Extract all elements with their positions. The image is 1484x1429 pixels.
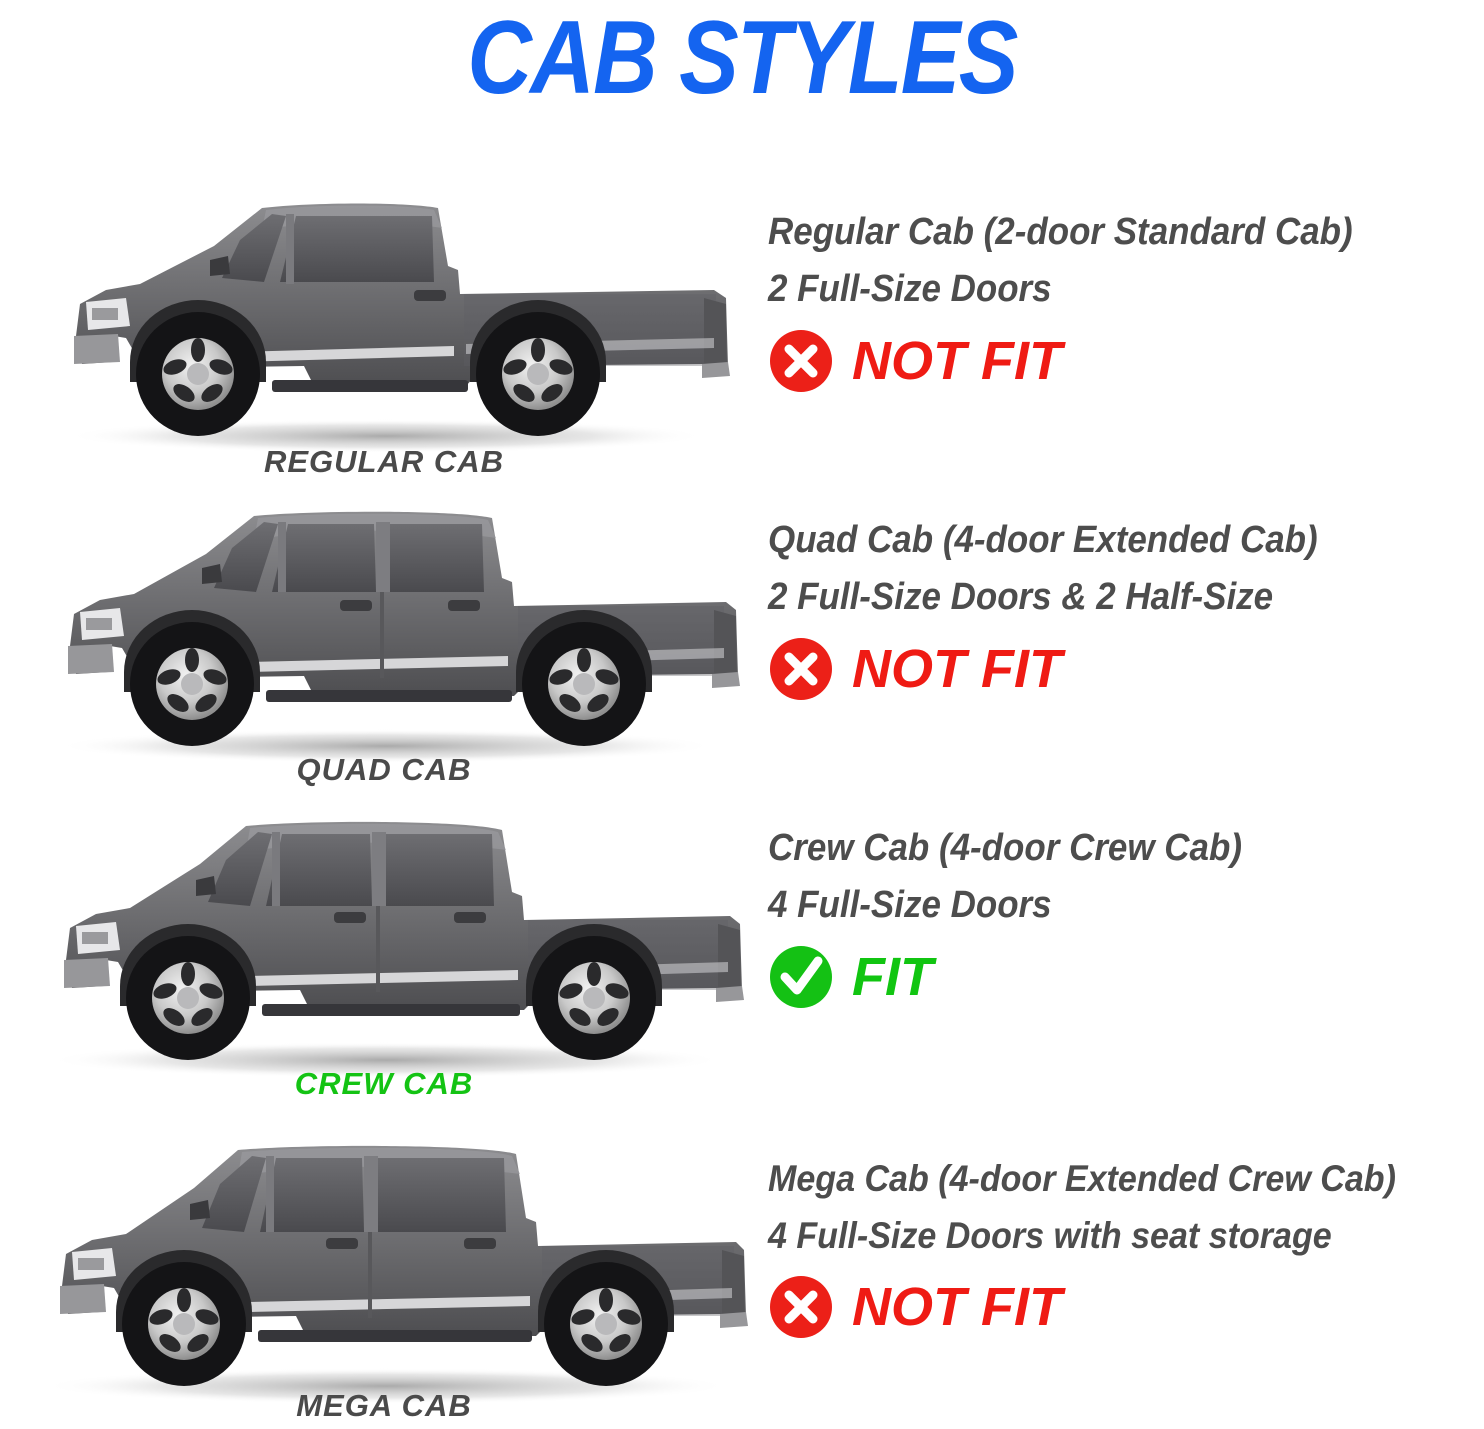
x-circle-icon <box>768 636 834 702</box>
a-pillar <box>266 1156 274 1232</box>
rear-bumper <box>716 986 744 1002</box>
fitment-badge-mega: NOT FIT <box>768 1274 1484 1340</box>
page-title: CAB STYLES <box>104 2 1380 114</box>
x-circle-icon <box>768 328 834 394</box>
rear-wheel <box>522 622 646 746</box>
truck-illustration <box>14 1136 754 1404</box>
rear-wheel <box>544 1262 668 1386</box>
fitment-label-crew: FIT <box>852 948 933 1006</box>
door-seam <box>380 592 384 678</box>
door-handle <box>414 290 446 301</box>
mega-cab-truck <box>14 1136 754 1409</box>
headlight-inner <box>78 1258 104 1270</box>
tailgate <box>704 298 726 366</box>
rear-wheel <box>476 312 600 436</box>
b-pillar <box>364 1156 378 1232</box>
front-door-handle <box>340 600 372 611</box>
crew-cab-truck <box>14 810 754 1083</box>
fitment-label-mega: NOT FIT <box>852 1278 1062 1336</box>
front-bumper <box>60 1284 106 1314</box>
truck-illustration <box>14 186 754 454</box>
tailgate <box>718 924 740 990</box>
headlight-inner <box>82 932 108 944</box>
b-pillar <box>372 832 386 906</box>
running-board <box>258 1330 532 1342</box>
check-circle-icon <box>768 944 834 1010</box>
rear-door-handle <box>448 600 480 611</box>
truck-illustration <box>14 496 754 764</box>
fitment-label-regular: NOT FIT <box>852 332 1062 390</box>
running-board <box>272 380 468 392</box>
rear-bumper <box>720 1312 748 1328</box>
rear-bumper <box>712 672 740 688</box>
rear-door-window-glass <box>390 524 484 592</box>
fitment-badge-quad: NOT FIT <box>768 636 1484 702</box>
rear-door-window-glass <box>378 1158 506 1232</box>
headlight-inner <box>92 308 118 320</box>
fitment-badge-crew: FIT <box>768 944 1484 1010</box>
cab-info-crew: Crew Cab (4-door Crew Cab) 4 Full-Size D… <box>768 820 1484 1010</box>
fitment-badge-regular: NOT FIT <box>768 328 1484 394</box>
front-wheel <box>126 936 250 1060</box>
front-door-window-glass <box>266 834 372 906</box>
cab-caption-regular: REGULAR CAB <box>14 444 754 480</box>
front-door-handle <box>326 1238 358 1249</box>
a-pillar <box>278 522 286 592</box>
front-bumper <box>68 644 114 674</box>
front-door-window-glass <box>272 524 376 592</box>
fitment-label-quad: NOT FIT <box>852 640 1062 698</box>
rear-door-handle <box>464 1238 496 1249</box>
door-seam <box>376 906 380 992</box>
truck-illustration <box>14 810 754 1078</box>
front-wheel <box>136 312 260 436</box>
rear-door-handle <box>454 912 486 923</box>
rear-bumper <box>702 362 730 378</box>
a-pillar <box>286 214 294 284</box>
cab-caption-quad: QUAD CAB <box>14 752 754 788</box>
cab-heading-regular: Regular Cab (2-door Standard Cab) <box>768 204 1427 261</box>
door-window-glass <box>280 216 434 282</box>
cab-caption-mega: MEGA CAB <box>14 1388 754 1424</box>
front-wheel <box>130 622 254 746</box>
cab-styles-infographic: CAB STYLES <box>0 0 1484 1429</box>
front-door-handle <box>334 912 366 923</box>
rear-door-window-glass <box>386 834 494 906</box>
cab-info-quad: Quad Cab (4-door Extended Cab) 2 Full-Si… <box>768 512 1484 702</box>
front-bumper <box>64 958 110 988</box>
front-bumper <box>74 334 120 364</box>
cab-caption-crew: CREW CAB <box>14 1066 754 1102</box>
cab-heading-mega: Mega Cab (4-door Extended Crew Cab) <box>768 1150 1427 1207</box>
cab-info-regular: Regular Cab (2-door Standard Cab) 2 Full… <box>768 204 1484 394</box>
cab-heading-quad: Quad Cab (4-door Extended Cab) <box>768 512 1427 569</box>
rear-wheel <box>532 936 656 1060</box>
regular-cab-truck <box>14 186 754 459</box>
tailgate <box>722 1250 744 1316</box>
tailgate <box>714 610 736 676</box>
a-pillar <box>272 832 280 906</box>
running-board <box>262 1004 520 1016</box>
b-pillar <box>376 522 390 592</box>
running-board <box>266 690 512 702</box>
headlight-inner <box>86 618 112 630</box>
cab-subheading-crew: 4 Full-Size Doors <box>768 877 1427 934</box>
cab-subheading-mega: 4 Full-Size Doors with seat storage <box>768 1207 1427 1264</box>
cab-subheading-quad: 2 Full-Size Doors & 2 Half-Size <box>768 569 1427 626</box>
cab-subheading-regular: 2 Full-Size Doors <box>768 261 1427 318</box>
front-door-window-glass <box>260 1158 364 1232</box>
quad-cab-truck <box>14 496 754 769</box>
cab-info-mega: Mega Cab (4-door Extended Crew Cab) 4 Fu… <box>768 1150 1484 1340</box>
door-seam <box>368 1232 372 1318</box>
front-wheel <box>122 1262 246 1386</box>
cab-heading-crew: Crew Cab (4-door Crew Cab) <box>768 820 1427 877</box>
x-circle-icon <box>768 1274 834 1340</box>
